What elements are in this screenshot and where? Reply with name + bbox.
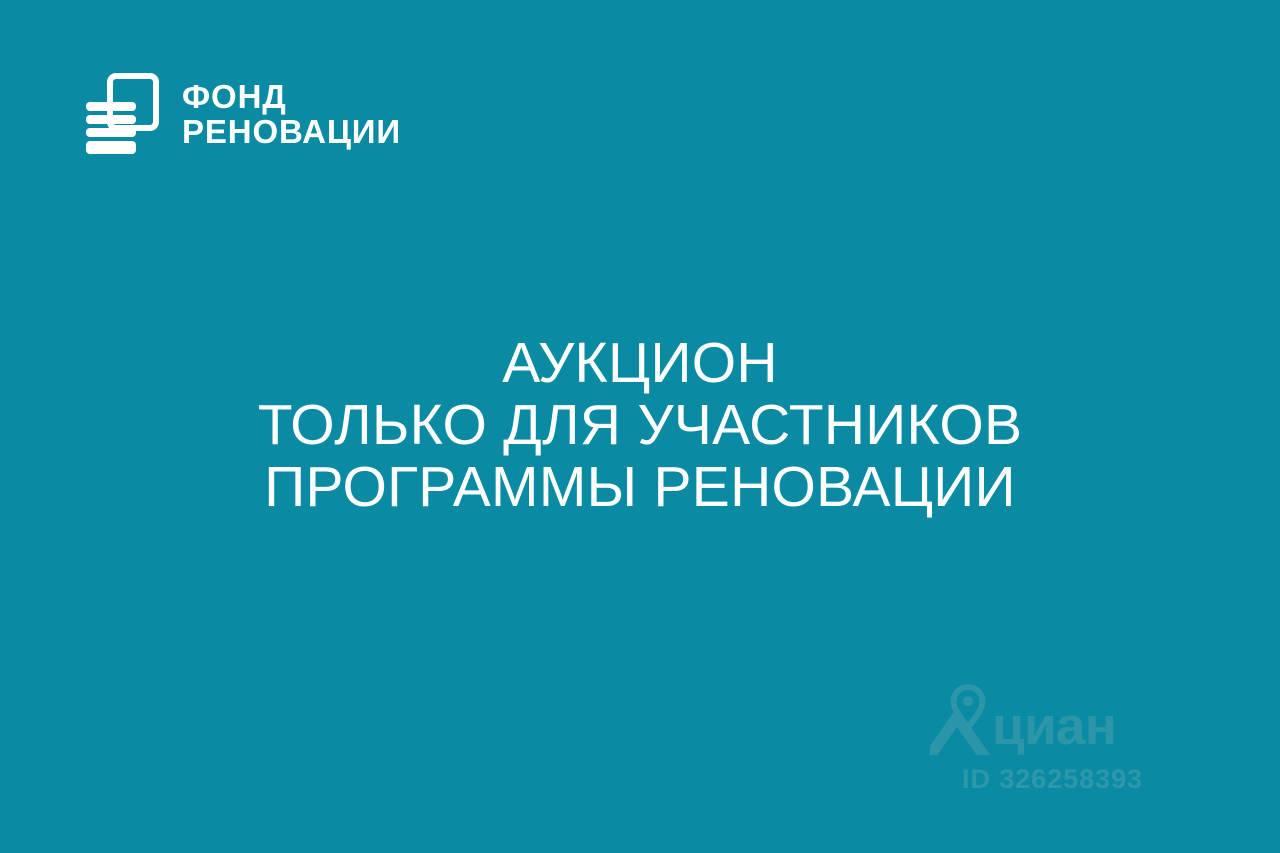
headline-line-2: ТОЛЬКО ДЛЯ УЧАСТНИКОВ xyxy=(0,394,1280,456)
brand-lockup: ФОНД РЕНОВАЦИИ xyxy=(82,72,401,158)
brand-wordmark: ФОНД РЕНОВАЦИИ xyxy=(182,80,401,150)
headline-block: АУКЦИОН ТОЛЬКО ДЛЯ УЧАСТНИКОВ ПРОГРАММЫ … xyxy=(0,332,1280,518)
headline-line-1: АУКЦИОН xyxy=(0,332,1280,394)
cian-listing-id: ID 326258393 xyxy=(962,766,1143,793)
headline-line-3: ПРОГРАММЫ РЕНОВАЦИИ xyxy=(0,456,1280,518)
brand-word-line-1: ФОНД xyxy=(182,80,401,115)
slide-canvas: ФОНД РЕНОВАЦИИ АУКЦИОН ТОЛЬКО ДЛЯ УЧАСТН… xyxy=(0,0,1280,853)
cian-pin-roof-icon xyxy=(930,683,1002,755)
cian-wordmark: циан xyxy=(992,700,1116,753)
document-stack-icon xyxy=(82,72,160,158)
cian-logo-row: циан xyxy=(930,683,1154,755)
brand-word-line-2: РЕНОВАЦИИ xyxy=(182,115,401,150)
cian-watermark: циан ID 326258393 xyxy=(930,683,1154,791)
